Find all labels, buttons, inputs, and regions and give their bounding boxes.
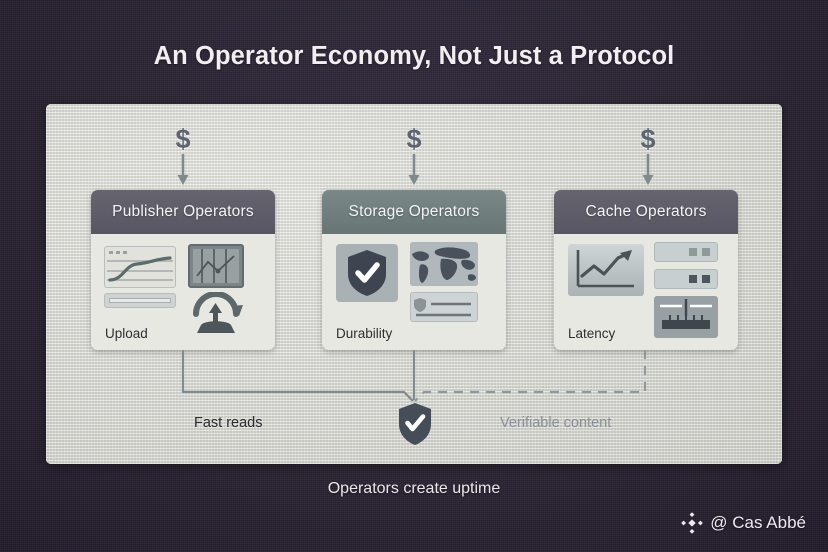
card-cache-title: Cache Operators bbox=[585, 203, 706, 221]
dollar-icon: $ bbox=[175, 124, 190, 154]
card-cache-operators[interactable]: Cache Operators bbox=[554, 190, 738, 350]
trend-up-chart-icon bbox=[568, 244, 644, 296]
progress-bar-icon bbox=[104, 293, 176, 308]
arrow-down-icon bbox=[175, 154, 191, 186]
shield-check-badge-icon bbox=[397, 402, 433, 451]
card-publisher-operators[interactable]: Publisher Operators bbox=[91, 190, 275, 350]
arrow-down-icon bbox=[406, 154, 422, 186]
diamond-cluster-logo bbox=[681, 512, 703, 534]
bar-chart-dark-icon bbox=[188, 244, 244, 288]
arrow-down-icon bbox=[640, 154, 656, 186]
card-publisher-body: Upload bbox=[91, 234, 275, 350]
shield-check-icon bbox=[336, 244, 398, 302]
card-storage-body: Durability bbox=[322, 234, 506, 350]
card-cache-body: Latency bbox=[554, 234, 738, 350]
flow-label-verifiable-content: Verifiable content bbox=[500, 415, 611, 431]
ruler-measure-icon bbox=[654, 296, 718, 338]
card-storage-label: Durability bbox=[336, 326, 392, 341]
diagram-panel: $ $ $ Publisher Operators bbox=[46, 104, 782, 464]
world-map-icon bbox=[410, 242, 478, 286]
server-rack-icon bbox=[654, 242, 718, 292]
card-publisher-title: Publisher Operators bbox=[112, 203, 254, 221]
card-cache-label: Latency bbox=[568, 326, 615, 341]
money-flow-storage: $ bbox=[394, 126, 434, 186]
card-storage-title: Storage Operators bbox=[349, 203, 480, 221]
line-chart-panel-icon bbox=[104, 246, 176, 288]
page-title: An Operator Economy, Not Just a Protocol bbox=[0, 42, 828, 71]
dollar-icon: $ bbox=[640, 124, 655, 154]
watermark-handle: @ Cas Abbé bbox=[710, 513, 806, 533]
card-storage-header: Storage Operators bbox=[322, 190, 506, 234]
money-flow-cache: $ bbox=[628, 126, 668, 186]
dollar-icon: $ bbox=[406, 124, 421, 154]
card-publisher-header: Publisher Operators bbox=[91, 190, 275, 234]
card-storage-operators[interactable]: Storage Operators bbox=[322, 190, 506, 350]
upload-gauge-icon bbox=[187, 292, 245, 338]
page-caption: Operators create uptime bbox=[0, 480, 828, 498]
watermark: @ Cas Abbé bbox=[681, 512, 806, 534]
secure-document-icon bbox=[410, 292, 478, 322]
money-flow-publisher: $ bbox=[163, 126, 203, 186]
card-publisher-label: Upload bbox=[105, 326, 148, 341]
flow-label-fast-reads: Fast reads bbox=[194, 415, 263, 431]
card-cache-header: Cache Operators bbox=[554, 190, 738, 234]
